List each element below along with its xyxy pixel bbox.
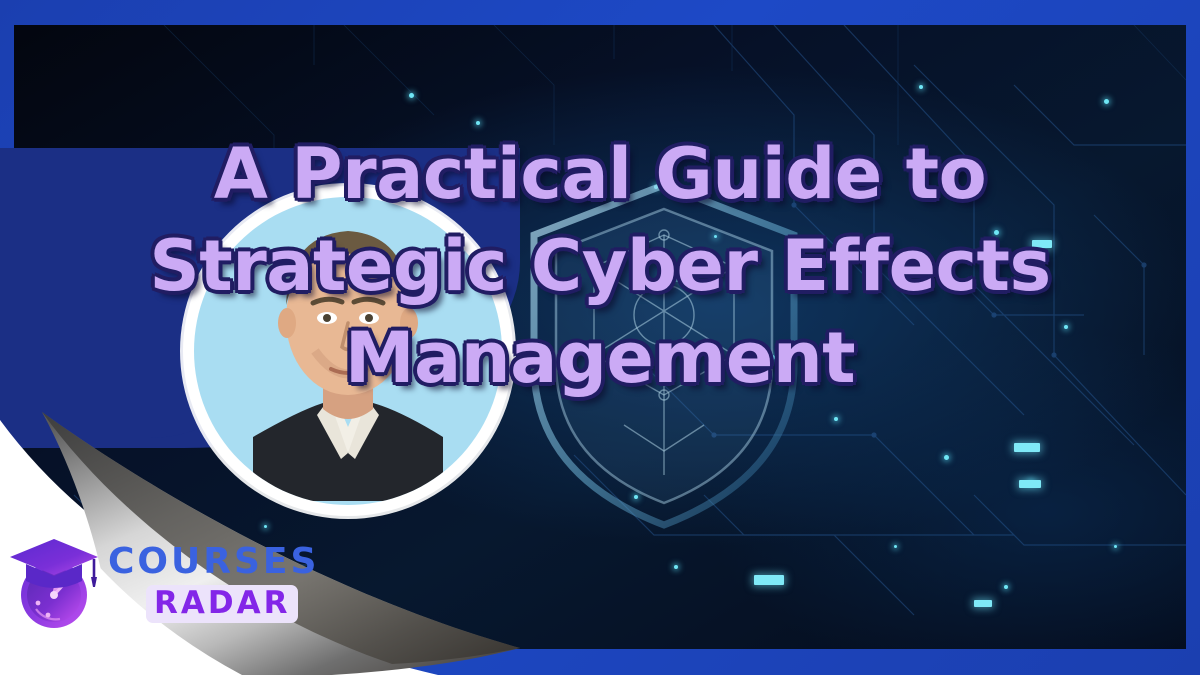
logo-radar-text: RADAR xyxy=(154,587,290,620)
logo-courses-text: COURSES xyxy=(108,543,319,581)
logo-radar-badge: RADAR xyxy=(146,585,298,623)
brand-logo[interactable]: COURSES RADAR xyxy=(8,528,278,638)
logo-wordmark: COURSES RADAR xyxy=(108,543,319,623)
graduation-cap-radar-icon xyxy=(8,533,104,633)
thumbnail-canvas: A Practical Guide to Strategic Cyber Eff… xyxy=(0,0,1200,675)
